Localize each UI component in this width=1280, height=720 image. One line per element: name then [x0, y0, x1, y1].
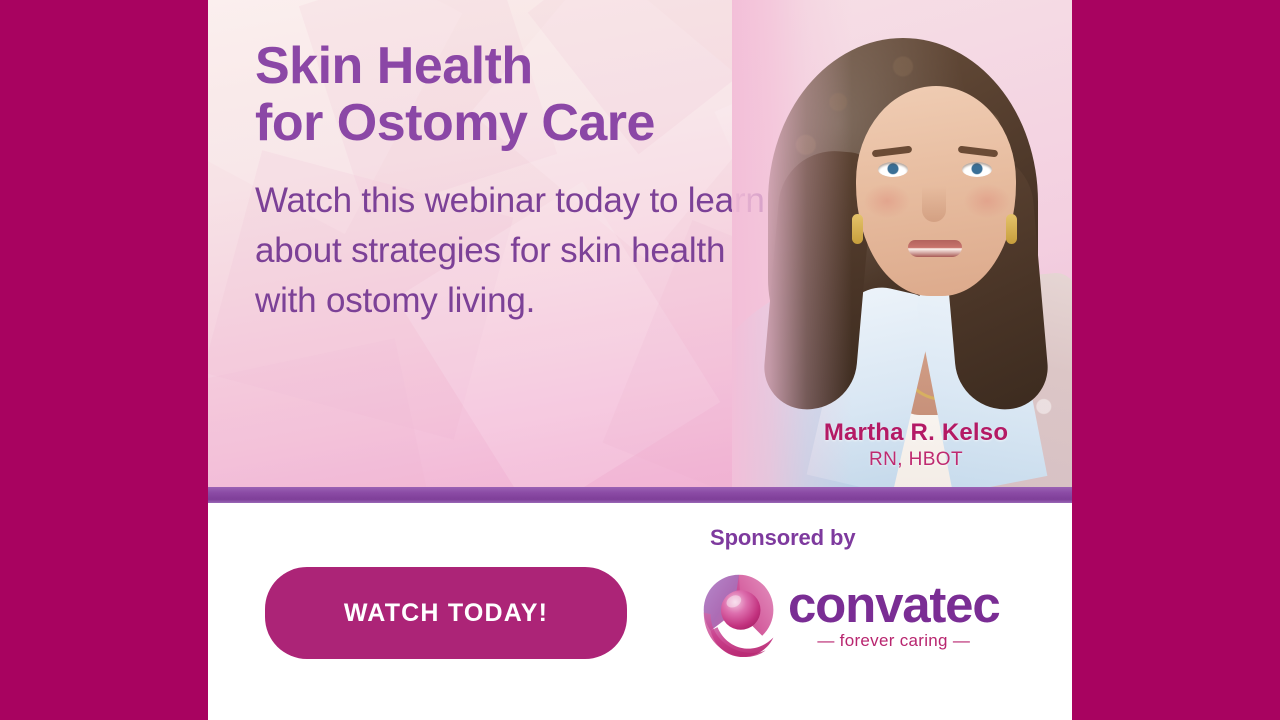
- watch-today-button[interactable]: WATCH TODAY!: [265, 567, 627, 659]
- eye-right: [962, 162, 992, 177]
- convatec-tagline: — forever caring —: [788, 631, 1000, 651]
- speaker-credentials: RN, HBOT: [766, 449, 1066, 471]
- headline-line-2: for Ostomy Care: [255, 95, 785, 152]
- sponsor-logo[interactable]: convatec — forever caring —: [696, 569, 1056, 663]
- hero-subheadline: Watch this webinar today to learn about …: [255, 176, 785, 325]
- banner-stage: Skin Health for Ostomy Care Watch this w…: [0, 0, 1280, 720]
- earring-right: [1006, 214, 1017, 244]
- cheek-right: [964, 184, 1010, 218]
- convatec-swirl-icon: [696, 569, 782, 663]
- nose: [922, 186, 946, 222]
- promo-panel: Skin Health for Ostomy Care Watch this w…: [208, 0, 1072, 720]
- headline-line-1: Skin Health: [255, 37, 533, 95]
- hero-section: Skin Health for Ostomy Care Watch this w…: [208, 0, 1072, 487]
- speaker-name: Martha R. Kelso: [766, 419, 1066, 447]
- mouth: [908, 240, 962, 257]
- footer-section: WATCH TODAY! Sponsored by: [208, 503, 1072, 720]
- section-divider: [208, 487, 1072, 503]
- eye-left: [878, 162, 908, 177]
- page-title: Skin Health for Ostomy Care: [255, 38, 785, 152]
- speaker-credit: Martha R. Kelso RN, HBOT: [766, 419, 1066, 471]
- earring-left: [852, 214, 863, 244]
- convatec-wordmark: convatec — forever caring —: [788, 581, 1000, 652]
- cheek-left: [864, 184, 910, 218]
- hero-text-block: Skin Health for Ostomy Care Watch this w…: [255, 38, 785, 325]
- sponsor-block: Sponsored by: [696, 525, 1056, 663]
- convatec-name: convatec: [788, 581, 1000, 630]
- sponsored-by-label: Sponsored by: [710, 525, 1056, 551]
